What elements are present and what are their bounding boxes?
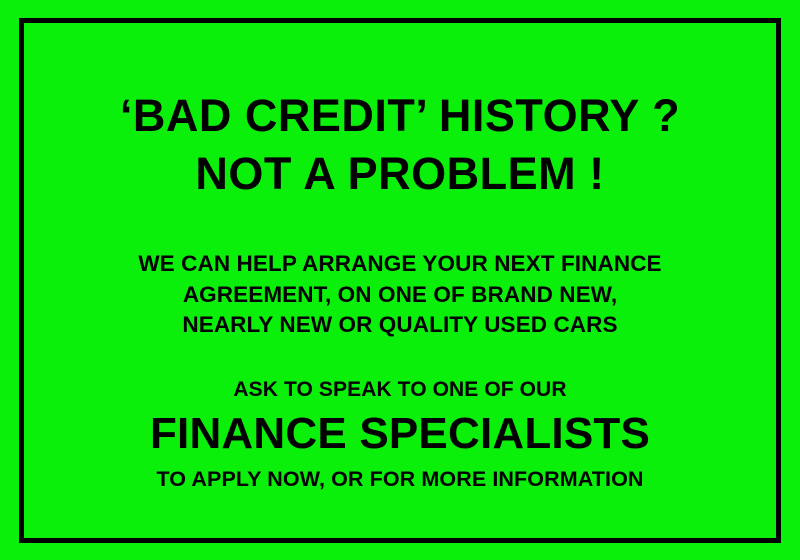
- body-line-3: NEARLY NEW OR QUALITY USED CARS: [24, 310, 776, 340]
- body-line-1: WE CAN HELP ARRANGE YOUR NEXT FINANCE: [24, 249, 776, 279]
- headline-block: ‘BAD CREDIT’ HISTORY ? NOT A PROBLEM !: [24, 87, 776, 202]
- cta-footer-text: TO APPLY NOW, OR FOR MORE INFORMATION: [24, 466, 776, 494]
- headline-line-1: ‘BAD CREDIT’ HISTORY ?: [24, 87, 776, 145]
- call-to-action-block: ASK TO SPEAK TO ONE OF OUR FINANCE SPECI…: [24, 376, 776, 493]
- advertisement-poster: ‘BAD CREDIT’ HISTORY ? NOT A PROBLEM ! W…: [0, 0, 800, 560]
- body-line-2: AGREEMENT, ON ONE OF BRAND NEW,: [24, 280, 776, 310]
- cta-highlight-text: FINANCE SPECIALISTS: [24, 408, 776, 460]
- cta-lead-in-text: ASK TO SPEAK TO ONE OF OUR: [24, 376, 776, 403]
- headline-line-2: NOT A PROBLEM !: [24, 145, 776, 203]
- body-text-block: WE CAN HELP ARRANGE YOUR NEXT FINANCE AG…: [24, 249, 776, 340]
- poster-content: ‘BAD CREDIT’ HISTORY ? NOT A PROBLEM ! W…: [24, 23, 776, 538]
